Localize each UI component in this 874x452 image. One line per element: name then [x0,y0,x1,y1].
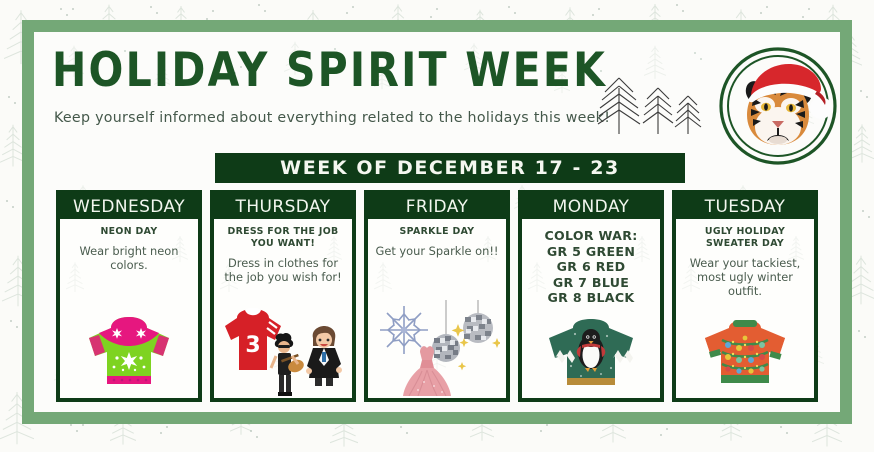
decorative-dot [160,432,162,434]
day-card-header: MONDAY [522,194,660,219]
day-card-lines: COLOR WAR:GR 5 GREENGR 6 REDGR 7 BLUEGR … [528,228,654,306]
sparkle-gown-disco-graphic [374,300,500,396]
decorative-pine-tree [374,259,392,297]
decorative-dot [258,4,260,6]
decorative-dot [150,6,152,8]
decorative-dot [808,8,810,10]
day-card-description: Wear bright neon colors. [66,244,192,272]
decorative-dot [264,10,266,12]
tiger-mascot-santa-hat-logo [717,45,839,167]
career-outfits-graphic: 3 [214,304,352,396]
decorative-dot [406,432,408,434]
decorative-dot [346,12,348,14]
decorative-dot [60,8,62,10]
decorative-dot [546,424,548,426]
decorative-dot [8,96,10,98]
day-card-heading: NEON DAY [66,226,192,238]
day-name: THURSDAY [236,197,331,217]
decorative-dot [866,96,868,98]
decorative-dot [430,16,432,18]
career-outfits-graphic: 3 [219,304,347,396]
decorative-dot [682,10,684,12]
day-card-line: GR 5 GREEN [528,244,654,260]
day-card-body: COLOR WAR:GR 5 GREENGR 6 REDGR 7 BLUEGR … [522,219,660,398]
day-card-header: WEDNESDAY [60,194,198,219]
decorative-dot [766,6,768,8]
decorative-dot [76,430,78,432]
decorative-dot [10,320,12,322]
week-banner: WEEK OF DECEMBER 17 - 23 [215,153,685,183]
day-card-thursday: THURSDAY DRESS FOR THE JOB YOU WANT!Dres… [210,190,356,402]
decorative-dot [70,424,72,426]
poster-frame: HOLIDAY SPIRIT WEEK Keep yourself inform… [22,20,852,424]
decorative-dot [760,12,762,14]
sparkle-gown-disco-graphic [368,304,506,396]
decorative-dot [256,436,258,438]
decorative-dot [352,6,354,8]
ugly-holiday-sweater-graphic [695,318,795,396]
decorative-dot [700,58,702,60]
decorative-dot [860,90,862,92]
day-card-description: Get your Sparkle on!! [374,244,500,258]
neon-sweater-graphic [81,312,177,396]
decorative-dot [156,12,158,14]
decorative-dot [14,102,16,104]
page-subtitle: Keep yourself informed about everything … [54,110,610,126]
day-card-wednesday: WEDNESDAY NEON DAYWear bright neon color… [56,190,202,402]
day-name: MONDAY [553,197,630,217]
day-card-description: Dress in clothes for the job you wish fo… [220,256,346,284]
decorative-dot [166,426,168,428]
day-card-monday: MONDAY COLOR WAR:GR 5 GREENGR 6 REDGR 7 … [518,190,664,402]
decorative-dot [82,424,84,426]
day-card-header: FRIDAY [368,194,506,219]
decorative-dot [598,8,600,10]
day-card-header: TUESDAY [676,194,814,219]
decorative-dot [12,206,14,208]
decorative-dot [6,200,8,202]
week-banner-text: WEEK OF DECEMBER 17 - 23 [280,157,620,179]
decorative-pine-tree [850,120,874,168]
day-card-line: GR 7 BLUE [528,275,654,291]
svg-text:3: 3 [245,333,260,358]
decorative-dot [802,16,804,18]
day-card-body: NEON DAYWear bright neon colors. [60,219,198,398]
day-card-body: DRESS FOR THE JOB YOU WANT!Dress in clot… [214,219,352,398]
decorative-dot [694,52,696,54]
day-card-body: UGLY HOLIDAY SWEATER DAYWear your tackie… [676,219,814,398]
decorative-dot [666,428,668,430]
day-card-body: SPARKLE DAYGet your Sparkle on!! [368,219,506,398]
holiday-spirit-week-poster: HOLIDAY SPIRIT WEEK Keep yourself inform… [0,0,874,448]
decorative-dot [858,330,860,332]
decorative-dot [592,14,594,16]
page-title: HOLIDAY SPIRIT WEEK [52,42,607,98]
decorative-dot [212,10,214,12]
decorative-dot [676,4,678,6]
day-card-tuesday: TUESDAY UGLY HOLIDAY SWEATER DAYWear you… [672,190,818,402]
day-name: WEDNESDAY [73,197,185,217]
decorative-dot [400,426,402,428]
penguin-sweater-graphic [541,316,641,396]
penguin-sweater-graphic [522,304,660,396]
decorative-dot [862,210,864,212]
day-card-header: THURSDAY [214,194,352,219]
pine-trees-illustration [585,70,707,144]
day-card-line: GR 6 RED [528,259,654,275]
day-card-description: Wear your tackiest, most ugly winter out… [682,256,808,298]
day-card-heading: UGLY HOLIDAY SWEATER DAY [682,226,808,250]
decorative-dot [72,8,74,10]
poster-inner: HOLIDAY SPIRIT WEEK Keep yourself inform… [34,32,840,412]
decorative-dot [514,12,516,14]
decorative-dot [508,6,510,8]
decorative-dot [16,326,18,328]
decorative-dot [780,426,782,428]
decorative-dot [436,8,438,10]
day-name: FRIDAY [406,197,469,217]
decorative-dot [250,430,252,432]
decorative-dot [660,434,662,436]
day-card-heading: DRESS FOR THE JOB YOU WANT! [220,226,346,250]
day-card-friday: FRIDAY SPARKLE DAYGet your Sparkle on!! [364,190,510,402]
neon-sweater-graphic [60,304,198,396]
decorative-dot [66,14,68,16]
decorative-dot [540,430,542,432]
day-card-heading: SPARKLE DAY [374,226,500,238]
decorative-dot [864,336,866,338]
decorative-dot [786,432,788,434]
day-cards-row: WEDNESDAY NEON DAYWear bright neon color… [56,190,818,402]
decorative-dot [868,216,870,218]
day-card-line: COLOR WAR: [528,228,654,244]
ugly-holiday-sweater-graphic [676,304,814,396]
day-name: TUESDAY [705,197,786,217]
